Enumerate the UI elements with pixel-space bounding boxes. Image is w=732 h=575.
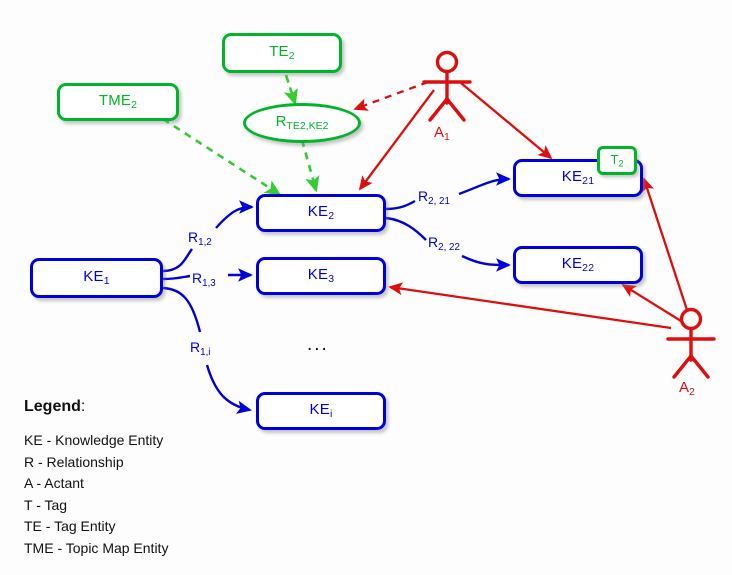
node-ke2-label: KE2 [308, 203, 334, 222]
edge-ke2-r222-stub [386, 218, 426, 240]
legend: Legend: KE - Knowledge Entity R - Relati… [24, 398, 168, 559]
edge-label-r222: R2, 22 [428, 234, 460, 253]
legend-entry: R - Relationship [24, 452, 168, 474]
edge-te2-rte2ke2 [286, 75, 295, 103]
node-ke2[interactable]: KE2 [256, 194, 386, 232]
node-ke3-label: KE3 [308, 266, 334, 285]
edge-a1-ke21 [461, 83, 551, 158]
node-kei[interactable]: KEi [256, 392, 386, 430]
legend-title-colon: : [81, 398, 85, 415]
edge-label-r221: R2, 21 [418, 188, 450, 207]
legend-entry: KE - Knowledge Entity [24, 430, 168, 452]
edge-label-r12: R1,2 [188, 229, 212, 248]
node-ke1-label: KE1 [83, 268, 109, 287]
ellipsis-indicator: ... [307, 334, 329, 356]
node-ke3[interactable]: KE3 [256, 257, 386, 295]
edge-r12-ke2 [216, 207, 252, 228]
actant-a2-figure [668, 310, 714, 378]
edge-ke1-r1i-stub [163, 288, 200, 332]
node-ke22[interactable]: KE22 [513, 246, 643, 284]
edge-label-r1i: R1,i [190, 339, 210, 358]
node-ke1[interactable]: KE1 [30, 258, 163, 298]
legend-title: Legend: [24, 398, 168, 416]
legend-entry: T - Tag [24, 495, 168, 517]
edge-r1i-kei [207, 365, 250, 410]
edge-r222-ke22 [462, 256, 509, 265]
node-ke22-label: KE22 [562, 255, 595, 274]
edge-a1-ke2 [360, 90, 434, 189]
node-kei-label: KEi [310, 401, 333, 420]
tag-t2-label: T2 [610, 152, 623, 169]
edge-ke1-r13-stub [163, 276, 190, 279]
tag-t2[interactable]: T2 [597, 146, 637, 175]
edge-a1-rte2ke2 [355, 82, 428, 109]
node-te2-label: TE2 [269, 43, 295, 62]
node-ke21-label: KE21 [562, 168, 595, 187]
edge-a2-ke22 [623, 285, 681, 321]
edge-rte2ke2-ke2 [302, 140, 316, 190]
node-rte2ke2-label: RTE2,KE2 [276, 113, 329, 132]
actant-label-a1: A1 [434, 124, 450, 143]
node-tme2[interactable]: TME2 [57, 83, 179, 121]
legend-entry: TE - Tag Entity [24, 516, 168, 538]
actant-a1-figure [424, 53, 470, 121]
node-relationship-te2-ke2[interactable]: RTE2,KE2 [243, 103, 361, 143]
edge-r221-ke21 [459, 179, 509, 194]
actant-label-a2: A2 [679, 379, 695, 398]
node-te2[interactable]: TE2 [222, 33, 342, 73]
edge-a2-ke21 [644, 179, 687, 310]
legend-title-text: Legend [24, 398, 81, 415]
edge-ke2-r221-stub [386, 201, 415, 209]
legend-entry: A - Actant [24, 473, 168, 495]
node-tme2-label: TME2 [99, 92, 137, 111]
legend-entry: TME - Topic Map Entity [24, 538, 168, 560]
edge-ke1-r12-stub [163, 249, 192, 271]
edge-a2-ke3 [390, 287, 671, 328]
edge-label-r13: R1,3 [192, 270, 216, 289]
